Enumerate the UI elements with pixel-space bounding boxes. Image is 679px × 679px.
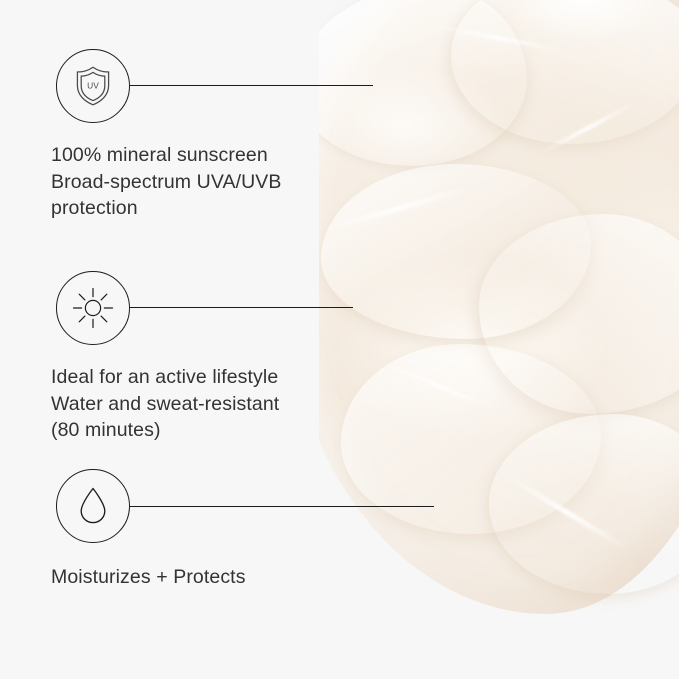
cream-highlight (538, 100, 637, 155)
callout-active-caption: Ideal for an active lifestyle Water and … (51, 364, 279, 444)
cream-swirl (319, 0, 527, 166)
callout-moisturizes-caption: Moisturizes + Protects (51, 564, 246, 591)
product-feature-infographic: UV 100% mineral sunscreen Broad-spectrum… (0, 0, 679, 679)
leader-line-moisturizes (129, 506, 434, 507)
water-droplet-icon-circle (56, 469, 130, 543)
cream-swirl (321, 164, 591, 339)
product-cream-photo (319, 0, 679, 679)
cream-swirl (451, 0, 679, 144)
cream-highlight (325, 185, 471, 231)
callout-uv-caption: 100% mineral sunscreen Broad-spectrum UV… (51, 142, 282, 222)
uv-shield-icon: UV (74, 65, 112, 107)
water-droplet-icon (78, 486, 108, 526)
sun-icon (71, 286, 115, 330)
cream-swirl (489, 414, 679, 594)
sun-icon-circle (56, 271, 130, 345)
cream-highlight (383, 362, 496, 411)
uv-shield-icon-label: UV (87, 80, 99, 90)
uv-shield-icon-circle: UV (56, 49, 130, 123)
leader-line-active (129, 307, 353, 308)
cream-highlight (506, 474, 629, 550)
cream-swirl (479, 214, 679, 414)
leader-line-uv (129, 85, 373, 86)
cream-highlight (434, 24, 562, 53)
cream-blob (319, 0, 679, 614)
